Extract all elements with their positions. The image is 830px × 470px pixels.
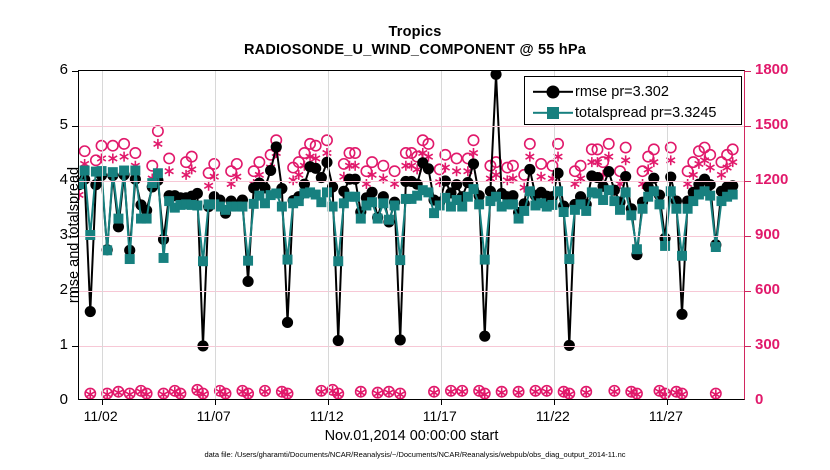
y-axis-left-tick-label: 3 [28,227,68,242]
obs-possible-marker [232,159,242,169]
totalspread-marker [113,214,123,224]
totalspread-marker [378,198,388,208]
x-axis-tick [328,399,329,405]
totalspread-marker [395,255,405,265]
obs-assimilated-marker [452,166,461,176]
y-axis-right-tick-label: 900 [755,227,815,242]
totalspread-marker [153,168,163,178]
vertical-gridline [102,71,103,399]
y-axis-left-tick [72,126,79,127]
totalspread-marker [237,202,247,212]
obs-possible-marker [108,141,118,151]
obs-assimilated-marker [700,155,709,165]
totalspread-marker [525,186,535,196]
obs-possible-marker [451,153,461,163]
y-axis-right-tick-label: 600 [755,282,815,297]
vertical-gridline [328,71,329,399]
totalspread-marker [198,256,208,266]
vertical-gridline [215,71,216,399]
totalspread-marker [474,199,484,209]
horizontal-gridline [79,181,744,182]
title-block: Tropics RADIOSONDE_U_WIND_COMPONENT @ 55… [0,24,830,60]
obs-assimilated-marker [492,170,501,180]
obs-possible-marker [164,153,174,163]
vertical-gridline [441,71,442,399]
y-axis-right-tick-label: 1500 [755,117,815,132]
rmse-marker [350,174,361,185]
y-axis-left-tick [72,236,79,237]
horizontal-gridline [79,291,744,292]
rmse-marker [490,71,501,80]
obs-assimilated-marker [351,161,360,171]
obs-possible-marker [153,126,163,136]
rmse-marker [333,335,344,346]
totalspread-marker [559,207,569,217]
obs-assimilated-marker [588,157,597,167]
rmse-marker [423,163,434,174]
x-axis-tick-label: 11/27 [631,409,701,423]
y-axis-right-tick [744,181,751,182]
rmse-marker [265,165,276,176]
obs-assimilated-marker [402,161,411,171]
page-title: Tropics [0,24,830,41]
totalspread-marker [547,200,557,210]
obs-assimilated-marker [109,153,118,163]
y-axis-left-tick-label: 5 [28,117,68,132]
x-axis-tick-label: 11/12 [292,409,362,423]
totalspread-marker [328,202,338,212]
rmse-marker [524,164,535,175]
x-axis-tick [554,399,555,405]
rmse-marker [395,334,406,345]
x-axis-tick-label: 11/17 [405,409,475,423]
totalspread-marker [660,241,670,251]
legend-item-rmse: rmse pr=3.302 [531,81,735,102]
horizontal-gridline [79,346,744,347]
horizontal-gridline [79,236,744,237]
totalspread-marker [469,184,479,194]
totalspread-marker [621,187,631,197]
rmse-marker [468,158,479,169]
totalspread-marker [333,256,343,266]
obs-assimilated-marker [79,190,83,200]
legend-marker-circle-icon [531,83,575,101]
totalspread-marker [615,205,625,215]
totalspread-marker [649,186,659,196]
rmse-marker [310,163,321,174]
totalspread-marker [671,204,681,214]
totalspread-marker [654,199,664,209]
obs-assimilated-marker [407,161,416,171]
totalspread-marker [271,188,281,198]
totalspread-marker [159,253,169,263]
obs-assimilated-marker [165,166,174,176]
rmse-marker [271,141,282,152]
x-axis-tick [441,399,442,405]
obs-possible-marker [119,139,129,149]
y-axis-right-tick [744,346,751,347]
totalspread-marker [480,255,490,265]
totalspread-marker [598,195,608,205]
obs-assimilated-marker [554,152,563,162]
obs-assimilated-marker [604,152,613,162]
totalspread-marker [192,201,202,211]
x-axis-tick-label: 11/07 [179,409,249,423]
obs-possible-marker [254,157,264,167]
totalspread-marker [373,214,383,224]
totalspread-marker [440,193,450,203]
totalspread-marker [508,199,518,209]
x-axis-tick [667,399,668,405]
obs-assimilated-marker [717,170,726,180]
legend-marker-square-icon [531,104,575,122]
obs-assimilated-marker [526,152,535,162]
obs-assimilated-marker [593,157,602,167]
y-axis-right-tick-label: 300 [755,337,815,352]
obs-assimilated-marker [204,181,213,191]
obs-assimilated-marker [706,163,715,173]
obs-assimilated-marker [469,148,478,158]
totalspread-marker [102,245,112,255]
totalspread-marker [705,191,715,201]
y-axis-left-tick [72,346,79,347]
totalspread-marker [85,230,95,240]
obs-possible-marker [79,146,89,156]
rmse-marker [479,331,490,342]
totalspread-marker [638,204,648,214]
legend: rmse pr=3.302 totalspread pr=3.3245 [524,76,742,125]
obs-possible-marker [468,135,478,145]
y-axis-right-tick-label: 1200 [755,172,815,187]
horizontal-gridline [79,126,744,127]
y-axis-right-tick [744,126,751,127]
obs-possible-marker [378,161,388,171]
obs-possible-marker [367,157,377,167]
x-axis-tick [215,399,216,405]
y-axis-left-tick-label: 0 [28,392,68,407]
totalspread-marker [243,256,253,266]
obs-assimilated-marker [120,152,129,162]
y-axis-right-tick [744,291,751,292]
rmse-marker [192,188,203,199]
totalspread-marker [283,255,293,265]
totalspread-marker [384,215,394,225]
x-axis-tick-label: 11/02 [66,409,136,423]
totalspread-marker [711,242,721,252]
totalspread-marker [147,178,157,188]
y-axis-right-tick [744,236,751,237]
obs-possible-marker [604,139,614,149]
x-axis-tick [102,399,103,405]
plot-root: Tropics RADIOSONDE_U_WIND_COMPONENT @ 55… [0,0,830,470]
legend-label-rmse: rmse pr=3.302 [575,84,669,100]
totalspread-marker [632,244,642,254]
totalspread-marker [581,206,591,216]
totalspread-marker [119,166,129,176]
y-axis-right-tick-label: 1800 [755,62,815,77]
obs-assimilated-marker [650,157,659,167]
totalspread-marker [677,251,687,261]
data-file-note: data file: /Users/gharamti/Documents/NCA… [0,450,830,459]
totalspread-marker [367,197,377,207]
x-axis-tick-label: 11/22 [518,409,588,423]
totalspread-marker [130,166,140,176]
obs-possible-marker [525,139,535,149]
obs-possible-marker [649,144,659,154]
rmse-marker [242,276,253,287]
rmse-marker [85,306,96,317]
y-axis-left-tick-label: 2 [28,282,68,297]
totalspread-marker [519,206,529,216]
rmse-marker [282,317,293,328]
rmse-marker [603,166,614,177]
legend-item-totalspread: totalspread pr=3.3245 [531,102,735,123]
totalspread-marker [457,202,467,212]
totalspread-marker [125,254,135,264]
legend-label-totalspread: totalspread pr=3.3245 [575,105,716,121]
obs-possible-marker [389,166,399,176]
totalspread-marker [564,254,574,264]
rmse-marker [366,187,377,198]
y-axis-left-tick-label: 1 [28,337,68,352]
rmse-marker [648,173,659,184]
y-axis-left-tick [72,71,79,72]
totalspread-marker [80,166,90,176]
totalspread-marker [626,210,636,220]
y-axis-left-tick [72,291,79,292]
rmse-marker [676,309,687,320]
totalspread-marker [277,202,287,212]
totalspread-marker [356,214,366,224]
y-axis-right-tick [744,71,751,72]
x-axis-title: Nov.01,2014 00:00:00 start [78,428,745,444]
y-axis-left-tick-label: 4 [28,172,68,187]
y-axis-right-tick-label: 0 [755,392,815,407]
totalspread-marker [609,196,619,206]
totalspread-marker [142,214,152,224]
obs-possible-marker [130,148,140,158]
obs-assimilated-marker [154,139,163,149]
totalspread-marker [108,167,118,177]
totalspread-marker [728,190,738,200]
totalspread-marker [350,192,360,202]
totalspread-marker [423,187,433,197]
obs-assimilated-marker [621,155,630,165]
totalspread-marker [390,201,400,211]
totalspread-marker [604,185,614,195]
y-axis-left-tick [72,181,79,182]
totalspread-marker [316,197,326,207]
page-subtitle: RADIOSONDE_U_WIND_COMPONENT @ 55 hPa [0,41,830,60]
totalspread-marker [491,192,501,202]
obs-possible-marker [536,159,546,169]
obs-possible-marker [620,142,630,152]
y-axis-left-tick-label: 6 [28,62,68,77]
